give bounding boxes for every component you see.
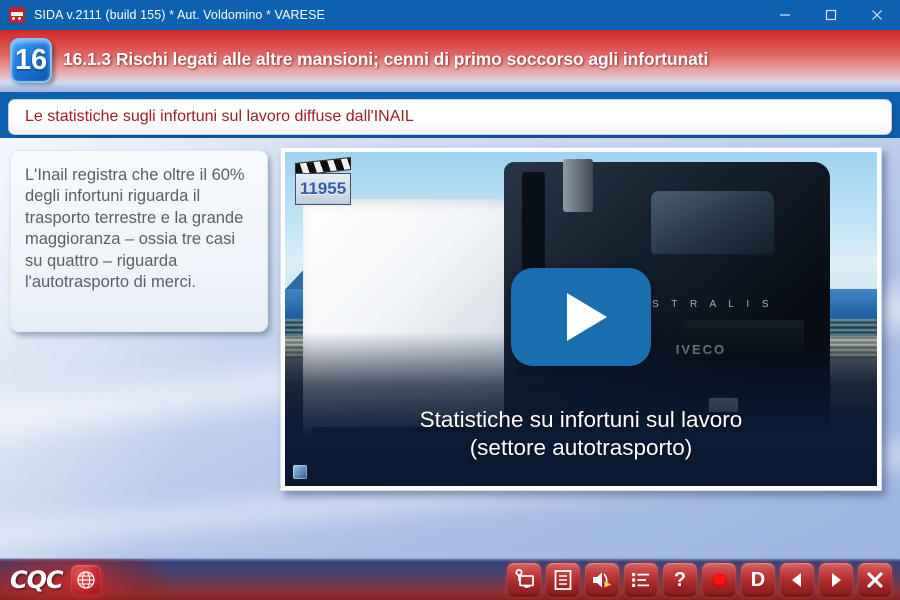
chapter-number: 16 [15, 46, 47, 75]
subtitle-bar: Le statistiche sugli infortuni sul lavor… [8, 99, 892, 135]
description-panel: L'Inail registra che oltre il 60% degli … [10, 150, 268, 332]
bottom-toolbar: CQC [0, 558, 900, 600]
video-caption-line2: (settore autotrasporto) [285, 434, 877, 462]
minimize-icon[interactable] [762, 0, 808, 30]
help-label: ? [674, 570, 686, 590]
video-truck-model-text: S T R A L I S [652, 299, 774, 310]
chapter-badge: 16 [8, 36, 56, 86]
clapperboard-icon: 11955 [294, 160, 352, 206]
video-truck-exhaust [563, 159, 593, 212]
toolbar-buttons: ? D [507, 563, 892, 597]
arrow-right-icon[interactable] [819, 563, 853, 597]
video-truck-windshield [651, 191, 775, 254]
speaker-play-icon[interactable] [585, 563, 619, 597]
watermark-icon [293, 465, 307, 479]
window-controls [762, 0, 900, 30]
window-title: SIDA v.2111 (build 155) * Aut. Voldomino… [34, 8, 325, 22]
document-icon[interactable] [546, 563, 580, 597]
maximize-icon[interactable] [808, 0, 854, 30]
description-text: L'Inail registra che oltre il 60% degli … [25, 165, 253, 294]
list-icon[interactable] [624, 563, 658, 597]
video-caption-line1: Statistiche su infortuni sul lavoro [285, 406, 877, 434]
brand-logo-text: CQC [10, 566, 63, 594]
x-icon[interactable] [858, 563, 892, 597]
brand-area: CQC [10, 565, 101, 595]
question-mark-icon[interactable]: ? [663, 563, 697, 597]
clip-number: 11955 [300, 179, 346, 199]
video-frame: S T R A L I S IVECO 11955 Statistiche su… [285, 152, 877, 486]
section-header: 16 16.1.3 Rischi legati alle altre mansi… [0, 30, 900, 92]
video-caption: Statistiche su infortuni sul lavoro (set… [285, 406, 877, 462]
letter-d-icon[interactable]: D [741, 563, 775, 597]
globe-icon[interactable] [71, 565, 101, 595]
monitor-icon[interactable] [507, 563, 541, 597]
content-area: L'Inail registra che oltre il 60% degli … [0, 138, 900, 558]
close-icon[interactable] [854, 0, 900, 30]
arrow-left-icon[interactable] [780, 563, 814, 597]
dictionary-label: D [751, 570, 765, 590]
title-bar: SIDA v.2111 (build 155) * Aut. Voldomino… [0, 0, 900, 30]
video-truck-mirror [522, 172, 546, 272]
page-title: 16.1.3 Rischi legati alle altre mansioni… [63, 49, 708, 70]
red-circle-icon[interactable] [702, 563, 736, 597]
application-window: SIDA v.2111 (build 155) * Aut. Voldomino… [0, 0, 900, 600]
subtitle-text: Le statistiche sugli infortuni sul lavor… [25, 108, 414, 126]
play-icon[interactable] [511, 268, 651, 366]
truck-icon [9, 7, 25, 23]
video-player[interactable]: S T R A L I S IVECO 11955 Statistiche su… [280, 147, 882, 491]
